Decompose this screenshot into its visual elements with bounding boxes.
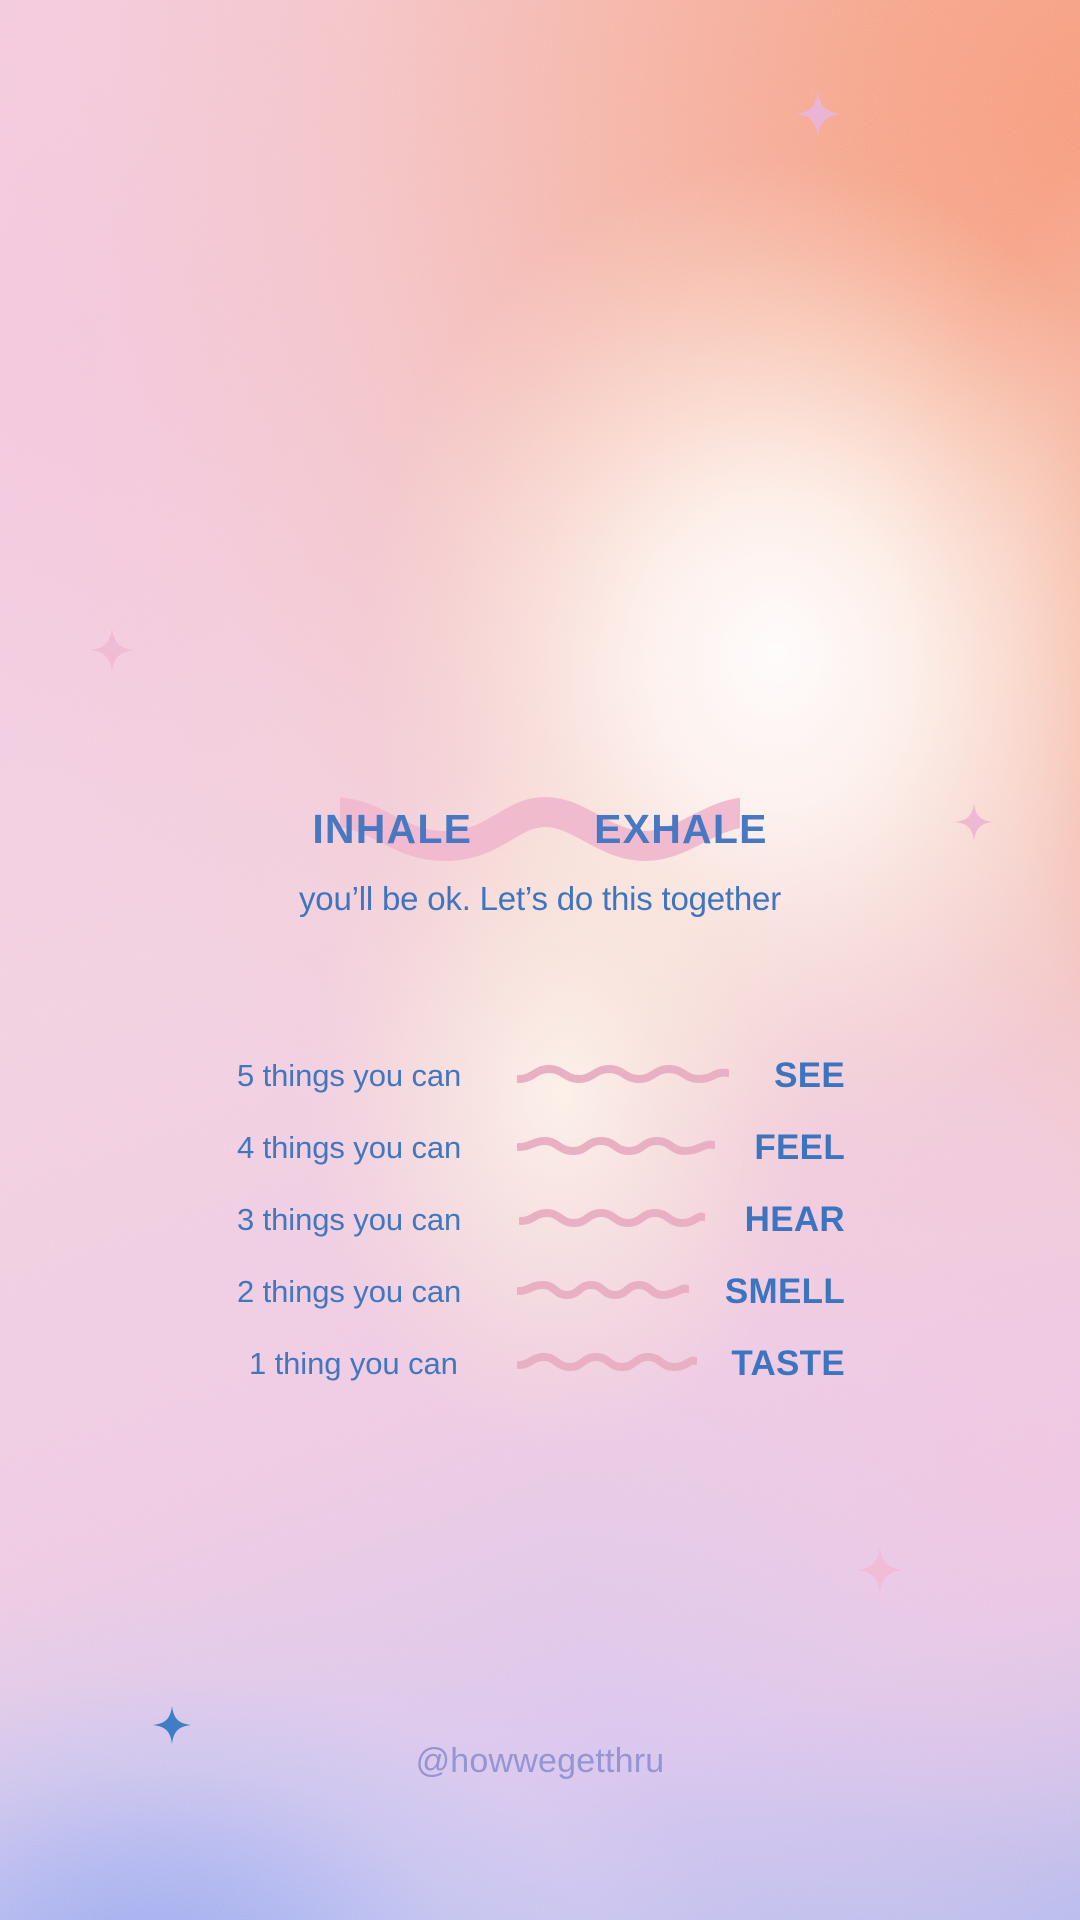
- inhale-label: INHALE: [312, 809, 472, 850]
- sense-count-label: 2 things you can: [237, 1274, 461, 1310]
- grounding-exercise-poster: INHALE EXHALE you’ll be ok. Let’s do thi…: [0, 0, 1080, 1920]
- sense-word-label: SEE: [774, 1056, 845, 1096]
- sense-row: 2 things you can SMELL: [235, 1256, 845, 1328]
- headline-words: INHALE EXHALE: [0, 786, 1080, 872]
- sense-count-label: 4 things you can: [237, 1130, 461, 1166]
- sense-squiggle-graphic: [517, 1061, 729, 1091]
- sense-row: 1 thing you can TASTE: [235, 1328, 845, 1400]
- breathing-headline: INHALE EXHALE: [0, 786, 1080, 876]
- sense-count-label: 3 things you can: [237, 1202, 461, 1238]
- social-handle[interactable]: @howwegetthru: [0, 1742, 1080, 1781]
- sense-squiggle-graphic: [517, 1277, 689, 1307]
- exhale-label: EXHALE: [594, 809, 768, 850]
- poster-subtitle: you’ll be ok. Let’s do this together: [0, 880, 1080, 918]
- sense-word-label: SMELL: [725, 1272, 845, 1312]
- sense-squiggle-graphic: [517, 1349, 697, 1379]
- sense-count-label: 5 things you can: [237, 1058, 461, 1094]
- poster-content: INHALE EXHALE you’ll be ok. Let’s do thi…: [0, 0, 1080, 1920]
- sense-word-label: FEEL: [754, 1128, 845, 1168]
- sense-count-label: 1 thing you can: [249, 1346, 458, 1382]
- senses-list: 5 things you can SEE 4 things you can FE…: [235, 1040, 845, 1400]
- sense-row: 3 things you can HEAR: [235, 1184, 845, 1256]
- sense-word-label: HEAR: [745, 1200, 845, 1240]
- sense-row: 4 things you can FEEL: [235, 1112, 845, 1184]
- sense-row: 5 things you can SEE: [235, 1040, 845, 1112]
- sense-word-label: TASTE: [731, 1344, 845, 1384]
- sense-squiggle-graphic: [519, 1205, 705, 1235]
- sense-squiggle-graphic: [517, 1133, 715, 1163]
